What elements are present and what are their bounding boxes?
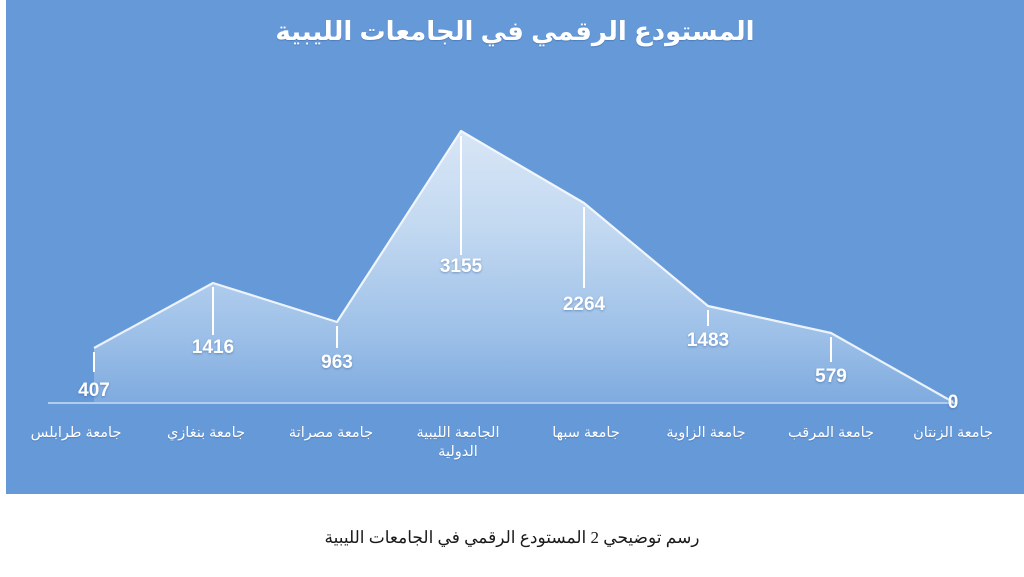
area-chart-svg: [6, 0, 1024, 420]
value-label-0: 407: [78, 380, 110, 402]
chart-panel: المستودع الرقمي في الجامعات الليبية: [6, 0, 1024, 494]
value-label-4: 2264: [563, 294, 605, 316]
value-label-2: 963: [321, 352, 353, 374]
figure-caption: رسم توضيحي 2 المستودع الرقمي في الجامعات…: [0, 528, 1024, 548]
category-label-7: جامعة الزنتان: [913, 424, 993, 443]
category-label-4: جامعة سبها: [552, 424, 620, 443]
category-label-3: الجامعة الليبية الدولية: [417, 424, 500, 462]
category-label-3-line-2: الدولية: [417, 443, 500, 462]
category-label-2-line-1: جامعة مصراتة: [289, 425, 373, 441]
value-label-3: 3155: [440, 256, 482, 278]
value-label-7: 0: [948, 392, 959, 414]
category-label-3-line-1: الجامعة الليبية: [417, 425, 500, 441]
category-label-6: جامعة المرقب: [788, 424, 874, 443]
plot-area: 407 1416 963 3155 2264 1483 579 0: [6, 0, 1024, 420]
category-label-1: جامعة بنغازي: [167, 424, 245, 443]
category-label-6-line-1: جامعة المرقب: [788, 425, 874, 441]
category-label-5-line-1: جامعة الزاوية: [666, 425, 745, 441]
area-series-fill: [94, 131, 953, 402]
value-label-6: 579: [815, 366, 847, 388]
chart-page: المستودع الرقمي في الجامعات الليبية: [0, 0, 1024, 577]
category-label-1-line-1: جامعة بنغازي: [167, 425, 245, 441]
category-label-2: جامعة مصراتة: [289, 424, 373, 443]
value-label-1: 1416: [192, 337, 234, 359]
category-label-5: جامعة الزاوية: [666, 424, 745, 443]
value-label-5: 1483: [687, 330, 729, 352]
category-label-0: جامعة طرابلس: [31, 424, 122, 443]
category-label-0-line-1: جامعة طرابلس: [31, 425, 122, 441]
category-label-4-line-1: جامعة سبها: [552, 425, 620, 441]
category-axis-labels: جامعة طرابلس جامعة بنغازي جامعة مصراتة ا…: [6, 414, 1024, 494]
category-label-7-line-1: جامعة الزنتان: [913, 425, 993, 441]
